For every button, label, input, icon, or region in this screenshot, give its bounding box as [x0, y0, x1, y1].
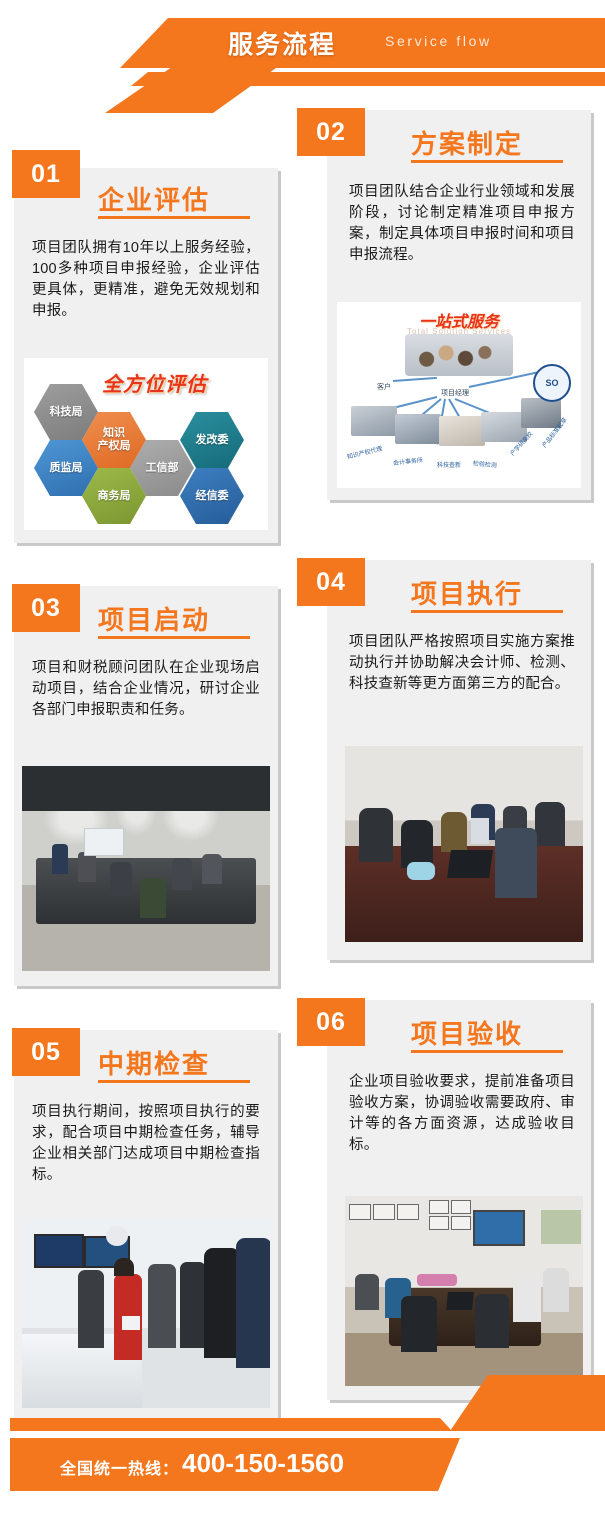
card-01: 企业评估 项目团队拥有10年以上服务经验，100多种项目申报经验，企业评估更具体… [14, 168, 278, 543]
photo-certificate-6 [429, 1216, 449, 1230]
one-stop-node-1 [351, 406, 397, 436]
card-06-title: 项目验收 [411, 1014, 523, 1051]
photo-attendee-f [543, 1268, 569, 1312]
hex-node-gongxin-label: 工信部 [146, 462, 179, 475]
photo-worker-f [535, 802, 565, 846]
photo-visitor-c [180, 1262, 206, 1348]
card-02-one-stop-diagram: 一站式服务 Total Solution Services 客户 项目经理 SO… [337, 302, 581, 488]
photo-certificate-1 [349, 1204, 371, 1220]
card-02-title-rule [411, 160, 563, 163]
photo-visitor-d [204, 1248, 240, 1358]
photo-visitor-b [148, 1264, 176, 1348]
photo-certificate-5 [451, 1200, 471, 1214]
hotline-label: 全国统一热线： [60, 1455, 179, 1479]
card-02-title: 方案制定 [411, 124, 523, 161]
photo-green-board [541, 1210, 581, 1244]
card-01-title-rule [98, 216, 250, 219]
card-04-description: 项目团队严格按照项目实施方案推动执行并协助解决会计师、检测、科技查新等更方面第三… [349, 632, 575, 695]
photo-person-c [110, 862, 132, 896]
card-06-photo [345, 1196, 583, 1386]
card-05-title: 中期检查 [98, 1044, 210, 1081]
photo-certificate-2 [373, 1204, 395, 1220]
card-03-photo [22, 766, 270, 971]
one-stop-bottom-label-1: 知识产权代理 [346, 443, 383, 460]
card-05: 中期检查 项目执行期间，按照项目执行的要求，配合项目中期检查任务，辅导企业相关部… [14, 1030, 278, 1422]
service-flow-infographic: 服务流程 Service flow 企业评估 项目团队拥有10年以上服务经验，1… [0, 0, 605, 1538]
one-stop-seal-icon: SO [533, 364, 571, 402]
one-stop-bottom-label-2: 会计事务所 [393, 455, 424, 467]
hex-node-zhijian-label: 质监局 [50, 462, 83, 475]
photo-visitor-a [78, 1270, 104, 1348]
one-stop-bottom-label-4: 检验检测 [473, 458, 498, 469]
card-03: 项目启动 项目和财税顾问团队在企业现场启动项目，结合企业情况，研讨企业各部门申报… [14, 586, 278, 986]
card-05-description: 项目执行期间，按照项目执行的要求，配合项目中期检查任务，辅导企业相关部门达成项目… [32, 1102, 260, 1186]
one-stop-bottom-label-3: 科技查新 [437, 460, 461, 469]
photo-person-a [52, 844, 68, 874]
card-01-title: 企业评估 [98, 180, 210, 217]
card-06-title-rule [411, 1050, 563, 1053]
card-01-hexagon-chart: 全方位评估 科技局 知识 产权局 质监局 工信部 商务局 发改委 经信委 [24, 358, 268, 530]
one-stop-node-2 [395, 414, 441, 444]
photo-attendee-c [401, 1296, 437, 1352]
card-05-photo [22, 1218, 270, 1408]
photo-person-f [202, 854, 222, 884]
page-title: 服务流程 [228, 25, 336, 61]
card-02-badge: 02 [297, 108, 365, 156]
hex-node-zscq-label: 知识 产权局 [98, 427, 131, 453]
photo-whiteboard [84, 828, 124, 856]
hexagon-chart-title: 全方位评估 [102, 368, 207, 397]
one-stop-hero-photo [405, 334, 513, 376]
photo-laptop-2 [446, 1292, 474, 1310]
hex-node-fagai-label: 发改委 [196, 434, 229, 447]
card-04-title: 项目执行 [411, 574, 523, 611]
photo-ac-unit [471, 818, 489, 844]
card-03-badge: 03 [12, 584, 80, 632]
photo-visitor-e [236, 1238, 270, 1368]
photo-flowers [417, 1274, 457, 1286]
hex-node-fagai: 发改委 [180, 412, 244, 468]
card-05-title-rule [98, 1080, 250, 1083]
photo-worker-a [359, 808, 393, 862]
card-03-title: 项目启动 [98, 600, 210, 637]
photo-person-b [78, 852, 96, 882]
photo-worker-b [401, 820, 433, 868]
photo-attendee-e [513, 1278, 541, 1322]
card-04-title-rule [411, 610, 563, 613]
card-01-badge: 01 [12, 150, 80, 198]
card-04-badge: 04 [297, 558, 365, 606]
one-stop-node-3 [439, 416, 485, 446]
photo-ceiling-light [106, 1226, 128, 1246]
header-banner: 服务流程 Service flow [0, 0, 605, 100]
card-06: 项目验收 企业项目验收要求，提前准备项目验收方案，协调验收需要政府、审计等的各方… [327, 1000, 591, 1400]
card-03-description: 项目和财税顾问团队在企业现场启动项目，结合企业情况，研讨企业各部门申报职责和任务… [32, 658, 260, 721]
one-stop-center-label-manager: 项目经理 [441, 388, 469, 398]
photo-documents [122, 1316, 140, 1330]
card-02: 方案制定 项目团队结合企业行业领域和发展阶段，讨论制定精准项目申报方案，制定具体… [327, 110, 591, 500]
hex-node-jingxin-label: 经信委 [196, 490, 229, 503]
hex-node-shangwu-label: 商务局 [98, 490, 131, 503]
photo-hair [114, 1258, 134, 1276]
one-stop-arrow-1 [393, 377, 437, 382]
photo-certificate-4 [429, 1200, 449, 1214]
photo-certificate-3 [397, 1204, 419, 1220]
hotline-number[interactable]: 400-150-1560 [182, 1448, 344, 1479]
photo-attendee-d [475, 1294, 509, 1348]
card-01-description: 项目团队拥有10年以上服务经验，100多种项目申报经验，企业评估更具体，更精准，… [32, 238, 260, 322]
photo-bag [407, 862, 435, 880]
card-03-title-rule [98, 636, 250, 639]
card-04-photo [345, 746, 583, 942]
photo-certificate-7 [451, 1216, 471, 1230]
card-06-badge: 06 [297, 998, 365, 1046]
header-band-stripe [128, 72, 605, 86]
card-05-badge: 05 [12, 1028, 80, 1076]
photo-person-d [140, 878, 166, 918]
photo-worker-c [441, 812, 467, 852]
hex-node-keji-label: 科技局 [50, 406, 83, 419]
photo-monitor-1 [34, 1234, 84, 1268]
page-subtitle: Service flow [385, 33, 492, 49]
photo-projector-screen [473, 1210, 525, 1246]
photo-person-e [172, 858, 192, 890]
footer-banner: 全国统一热线： 400-150-1560 [0, 1408, 605, 1538]
photo-worker-g [495, 828, 537, 898]
photo-attendee-a [355, 1274, 379, 1310]
photo-laptop-1 [447, 850, 493, 878]
card-02-description: 项目团队结合企业行业领域和发展阶段，讨论制定精准项目申报方案，制定具体项目申报时… [349, 182, 575, 266]
card-06-description: 企业项目验收要求，提前准备项目验收方案，协调验收需要政府、审计等的各方面资源，达… [349, 1072, 575, 1156]
card-04: 项目执行 项目团队严格按照项目实施方案推动执行并协助解决会计师、检测、科技查新等… [327, 560, 591, 960]
one-stop-center-label-customer: 客户 [377, 382, 391, 392]
hex-node-jingxin: 经信委 [180, 468, 244, 524]
